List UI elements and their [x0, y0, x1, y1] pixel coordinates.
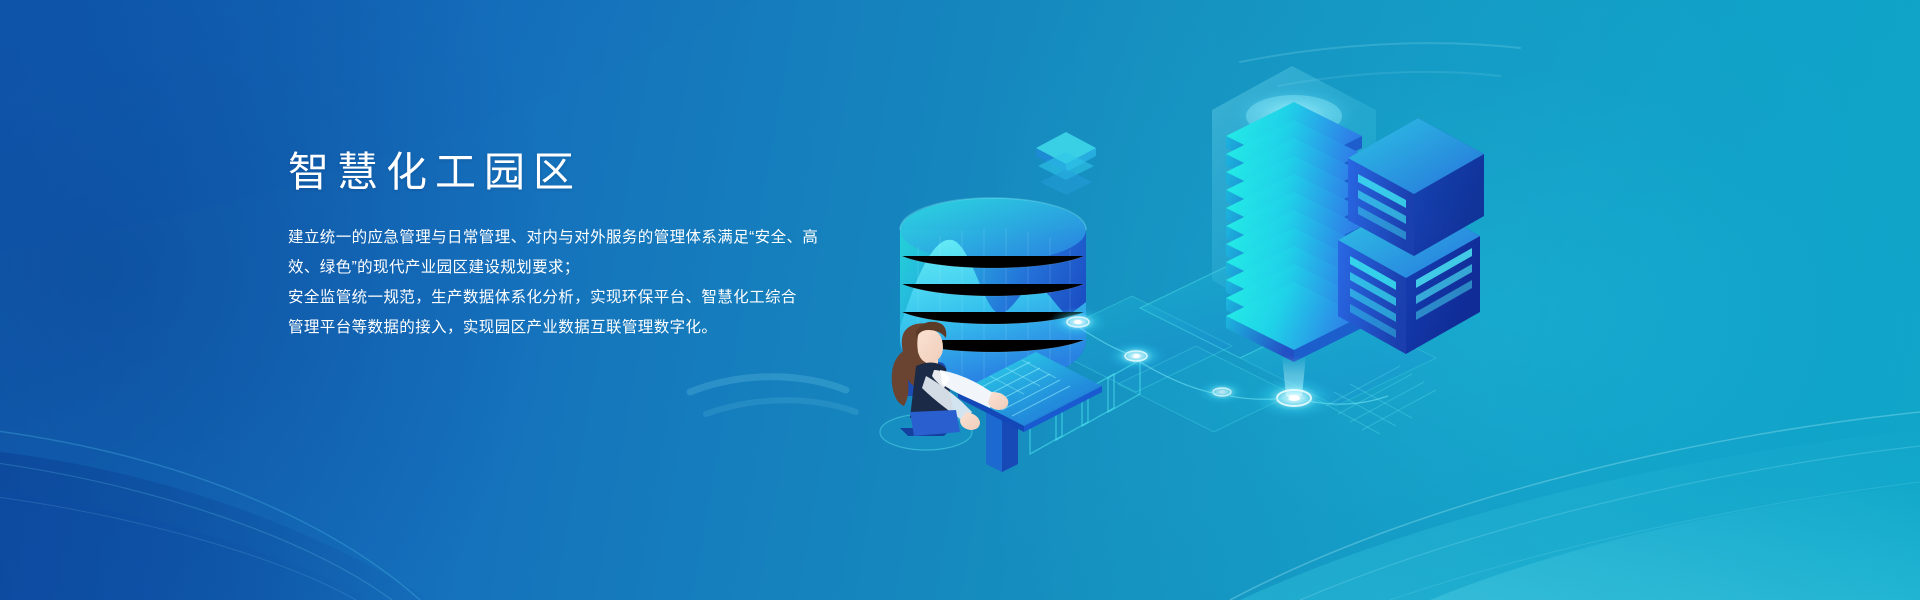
floating-layers-icon [1036, 132, 1096, 195]
description-line-2: 效、绿色”的现代产业园区建设规划要求； [288, 253, 888, 283]
banner-copy: 智慧化工园区 建立统一的应急管理与日常管理、对内与对外服务的管理体系满足“安全、… [288, 148, 888, 343]
description-line-3: 安全监管统一规范，生产数据体系化分析，实现环保平台、智慧化工综合 [288, 283, 888, 313]
illustration-svg [840, 40, 1460, 470]
hero-banner: 智慧化工园区 建立统一的应急管理与日常管理、对内与对外服务的管理体系满足“安全、… [0, 0, 1920, 600]
glow-node-d [1196, 379, 1248, 405]
glow-node-a [1250, 376, 1338, 420]
banner-description: 建立统一的应急管理与日常管理、对内与对外服务的管理体系满足“安全、高 效、绿色”… [288, 223, 888, 343]
tower-slab-stack [1226, 102, 1362, 362]
glow-node-b [1048, 307, 1108, 337]
glow-node-c [1106, 341, 1166, 371]
description-line-4: 管理平台等数据的接入，实现园区产业数据互联管理数字化。 [288, 313, 888, 343]
description-line-1: 建立统一的应急管理与日常管理、对内与对外服务的管理体系满足“安全、高 [288, 223, 888, 253]
page-title: 智慧化工园区 [288, 148, 888, 197]
hero-illustration [840, 40, 1460, 470]
